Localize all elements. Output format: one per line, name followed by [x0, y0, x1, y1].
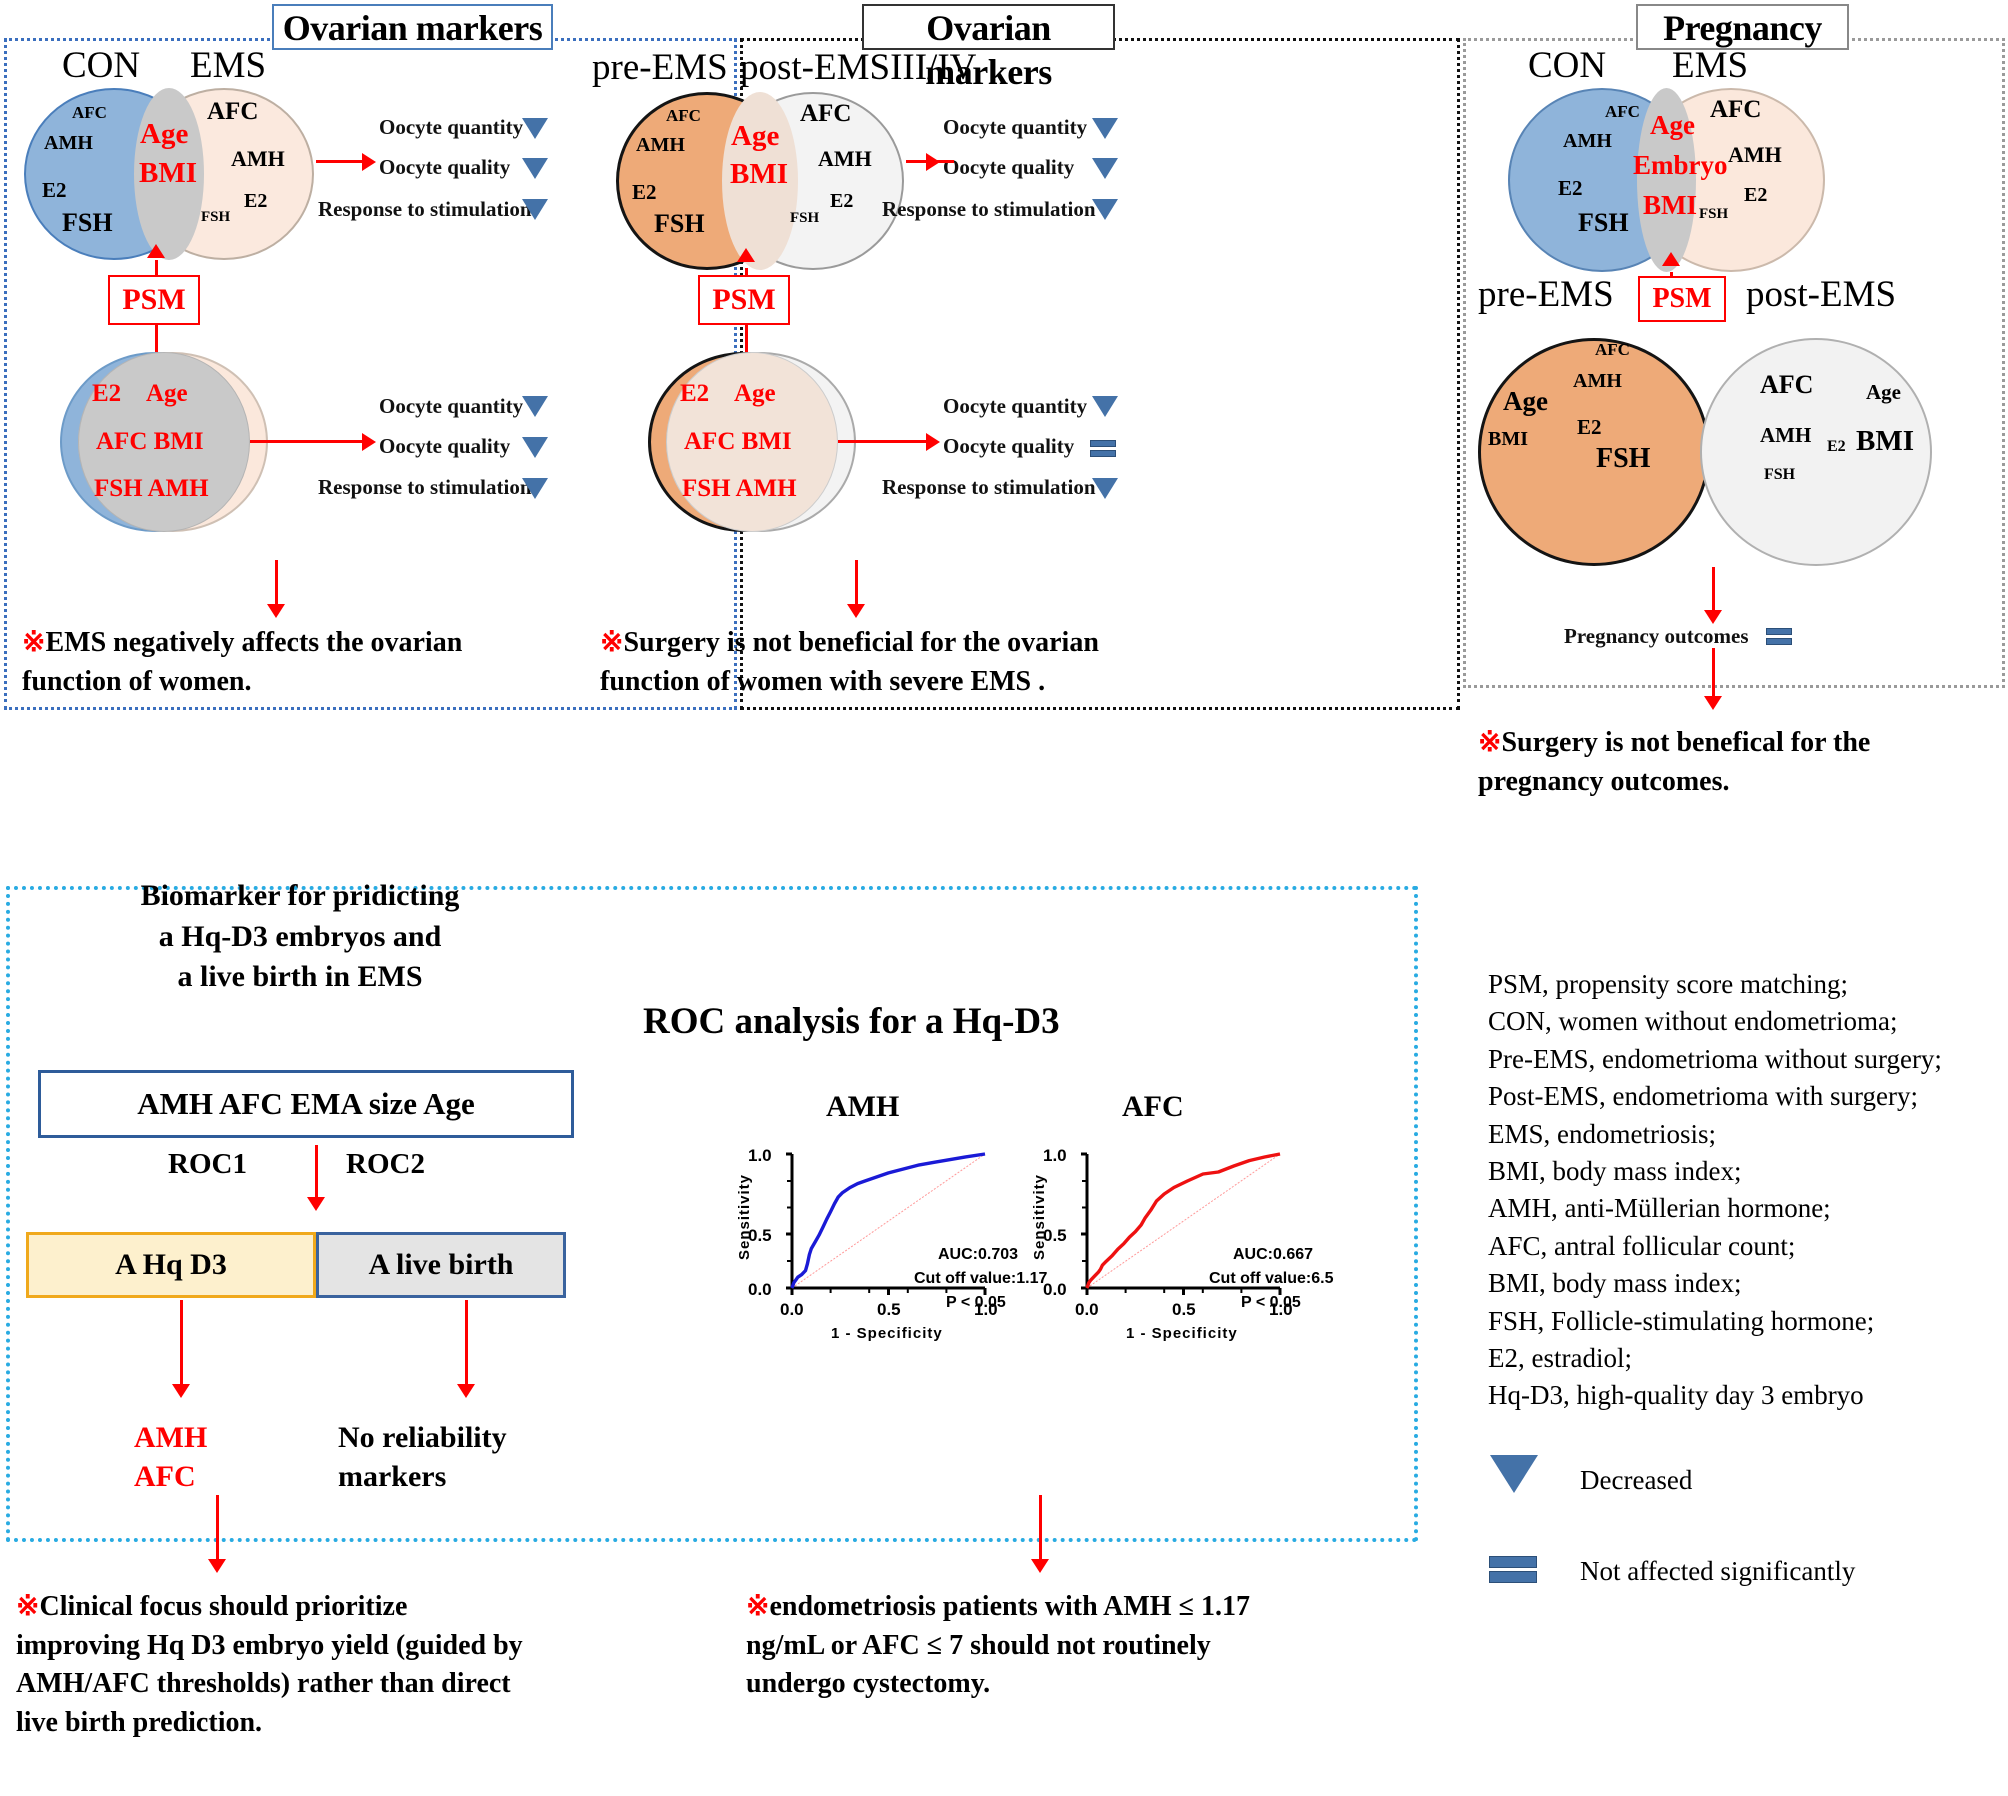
legend-not-affected-label: Not affected significantly [1580, 1556, 1855, 1587]
p4-conclusion-left: ※Clinical focus should prioritize improv… [16, 1588, 536, 1743]
p2-center-marker-age: Age [731, 120, 779, 153]
p3-right-marker-afc: AFC [1710, 96, 1761, 124]
p1-conclusion-arrow-head [267, 604, 285, 618]
biomarker-markers-box: AMH AFC EMA size Age [38, 1070, 574, 1138]
biomarker-title-line-2: a live birth in EMS [60, 957, 540, 998]
abbreviation-0: PSM, propensity score matching; [1488, 966, 1942, 1003]
p4-left-conclusion-arrow-head [208, 1559, 226, 1573]
p3-bl-marker-amh: AMH [1573, 370, 1622, 393]
live-result-line-1: markers [338, 1457, 507, 1496]
p2-right-marker-afc: AFC [800, 100, 851, 128]
p1-top-arrow-head [362, 153, 376, 171]
p3-right-marker-e2: E2 [1744, 184, 1767, 207]
roc-chart-0-xtick-0: 0.0 [780, 1300, 804, 1320]
p1-outcome-top-0-decreased-icon [522, 118, 548, 139]
p3-br-marker-age: Age [1866, 380, 1901, 405]
live-arrow-line [465, 1300, 468, 1388]
roc-chart-1-xtick-05: 0.5 [1172, 1300, 1196, 1320]
p3-bl-marker-age: Age [1503, 386, 1548, 417]
roc-chart-0-auc: AUC:0.703 [938, 1246, 1018, 1264]
roc-chart-0-pvalue: P < 0.05 [946, 1294, 1006, 1312]
p3-bottom-right-label: post-EMS [1746, 273, 1896, 316]
p3-left-marker-fsh: FSH [1578, 208, 1629, 238]
p2-conclusion-text: Surgery is not beneficial for the ovaria… [600, 627, 1099, 697]
p3-outcome-not-affected-icon [1766, 628, 1792, 648]
p2-outcome-bottom-1: Oocyte quality [943, 434, 1074, 459]
p2-top-arrow-head [926, 153, 940, 171]
p2-top-left-label: pre-EMS [592, 46, 728, 89]
p4-right-conclusion-arrow-head [1031, 1559, 1049, 1573]
p3-br-marker-e2: E2 [1827, 438, 1846, 456]
abbreviation-2: Pre-EMS, endometrioma without surgery; [1488, 1041, 1942, 1078]
p3-left-marker-amh: AMH [1563, 130, 1612, 153]
p4-conclusion-left-text: Clinical focus should prioritize improvi… [16, 1591, 523, 1738]
p1-center-marker-age: Age [140, 118, 188, 151]
p2-psm-arrow-head-up [737, 248, 755, 262]
hq-arrow-head [172, 1384, 190, 1398]
roc-chart-0-ytick-0: 0.0 [748, 1280, 772, 1300]
hq-result-line-0: AMH [134, 1418, 207, 1457]
p1-outcome-bottom-0-decreased-icon [522, 396, 548, 417]
roc1-label: ROC1 [168, 1148, 247, 1181]
roc-chart-0-cutoff: Cut off value:1.17 [914, 1270, 1047, 1288]
p2-outcome-bottom-0: Oocyte quantity [943, 394, 1087, 419]
p2-bottom-marker-age: Age [734, 380, 776, 408]
hq-result: AMH AFC [134, 1418, 207, 1496]
p4-conclusion-right: ※endometriosis patients with AMH ≤ 1.17 … [746, 1588, 1266, 1704]
p2-left-marker-fsh: FSH [654, 209, 705, 239]
p1-top-arrow-line [316, 160, 364, 163]
p4-right-conclusion-arrow-line [1039, 1495, 1042, 1563]
legend-decreased-icon [1490, 1455, 1538, 1493]
p4-conclusion-right-text: endometriosis patients with AMH ≤ 1.17 n… [746, 1591, 1250, 1699]
p1-left-marker-amh: AMH [44, 132, 93, 155]
p3-top-right-label: EMS [1672, 44, 1748, 87]
p3-conclusion-arrow-line [1712, 648, 1715, 700]
biomarker-title-line-0: Biomarker for pridicting [60, 876, 540, 917]
abbreviation-3: Post-EMS, endometrioma with surgery; [1488, 1078, 1942, 1115]
p1-outcome-top-1-decreased-icon [522, 158, 548, 179]
roc-chart-1-xlabel: 1 - Specificity [1126, 1325, 1238, 1342]
p1-outcome-bottom-1: Oocyte quality [379, 434, 510, 459]
p3-outcome-label: Pregnancy outcomes [1564, 624, 1749, 649]
p2-left-marker-e2: E2 [632, 180, 657, 205]
p3-br-marker-afc: AFC [1760, 370, 1813, 400]
roc-chart-0-title: AMH [826, 1090, 899, 1124]
biomarker-split-arrow-line [315, 1145, 318, 1201]
biomarker-title-line-1: a Hq-D3 embryos and [60, 917, 540, 958]
hq-result-line-1: AFC [134, 1457, 207, 1496]
abbreviation-6: AMH, anti-Müllerian hormone; [1488, 1190, 1942, 1227]
abbreviation-5: BMI, body mass index; [1488, 1153, 1942, 1190]
p3-bl-marker-fsh: FSH [1596, 443, 1650, 475]
p1-left-marker-afc: AFC [72, 103, 107, 123]
live-arrow-head [457, 1384, 475, 1398]
p1-top-left-label: CON [62, 44, 140, 87]
p1-psm-box: PSM [108, 275, 200, 325]
p1-outcome-bottom-0: Oocyte quantity [379, 394, 523, 419]
p2-bottom-arrow-head [926, 433, 940, 451]
p3-bl-marker-e2: E2 [1577, 415, 1602, 440]
p2-center-marker-bmi: BMI [730, 158, 788, 191]
p1-outcome-bottom-1-decreased-icon [522, 437, 548, 458]
roc2-label: ROC2 [346, 1148, 425, 1181]
abbreviation-9: FSH, Follicle-stimulating hormone; [1488, 1303, 1942, 1340]
p1-psm-arrow-head-up [147, 244, 165, 258]
p1-top-right-label: EMS [190, 44, 266, 87]
p1-left-marker-e2: E2 [42, 178, 67, 203]
hq-d3-box: A Hq D3 [26, 1232, 316, 1298]
biomarker-split-arrow-head [307, 1197, 325, 1211]
p2-bottom-marker-afc-bmi: AFC BMI [684, 428, 792, 456]
p2-outcome-top-2: Response to stimulation [882, 197, 1096, 222]
p3-outcome-arrow-line [1712, 567, 1715, 614]
panel-1-title: Ovarian markers [272, 4, 553, 50]
p3-conclusion-arrow-head [1704, 696, 1722, 710]
p1-center-marker-bmi: BMI [139, 157, 197, 190]
p3-bl-marker-bmi: BMI [1488, 428, 1528, 451]
p1-bottom-marker-afc-bmi: AFC BMI [96, 428, 204, 456]
p1-right-marker-fsh: FSH [201, 209, 230, 226]
p1-outcome-top-2: Response to stimulation [318, 197, 532, 222]
p4-left-conclusion-arrow-line [216, 1495, 219, 1563]
p3-outcome-arrow-head [1704, 610, 1722, 624]
biomarker-title: Biomarker for pridicting a Hq-D3 embryos… [60, 876, 540, 998]
legend-decreased-label: Decreased [1580, 1465, 1692, 1496]
roc-chart-1-pvalue: P < 0.05 [1241, 1294, 1301, 1312]
p1-bottom-marker-e2: E2 [92, 380, 121, 408]
p2-right-marker-fsh: FSH [790, 210, 819, 227]
roc-chart-1-ylabel: Sensitivity [1031, 1174, 1048, 1260]
p3-left-marker-e2: E2 [1558, 176, 1583, 201]
roc-chart-0-ylabel: Sensitivity [736, 1174, 753, 1260]
hq-arrow-line [180, 1300, 183, 1388]
roc-chart-1-title: AFC [1122, 1090, 1184, 1124]
p3-br-marker-bmi: BMI [1856, 425, 1914, 458]
roc-chart-1-cutoff: Cut off value:6.5 [1209, 1270, 1333, 1288]
live-birth-box: A live birth [316, 1232, 566, 1298]
legend-not-affected-icon [1489, 1556, 1537, 1590]
abbreviation-7: AFC, antral follicular count; [1488, 1228, 1942, 1265]
p2-outcome-bottom-2: Response to stimulation [882, 475, 1096, 500]
p2-outcome-top-1: Oocyte quality [943, 155, 1074, 180]
p3-bottom-left-label: pre-EMS [1478, 273, 1614, 316]
p3-top-left-label: CON [1528, 44, 1606, 87]
p1-outcome-top-1: Oocyte quality [379, 155, 510, 180]
p1-right-marker-amh: AMH [231, 146, 285, 172]
p3-center-marker-age: Age [1650, 110, 1695, 141]
p2-bottom-marker-e2: E2 [680, 380, 709, 408]
abbreviation-11: Hq-D3, high-quality day 3 embryo [1488, 1377, 1942, 1414]
live-result-line-0: No reliability [338, 1418, 507, 1457]
p2-outcome-top-2-decreased-icon [1092, 199, 1118, 220]
p2-top-right-label: post-EMSIII/IV [740, 46, 976, 89]
p1-conclusion-arrow-line [275, 560, 278, 608]
roc-chart-0-ytick-1: 1.0 [748, 1146, 772, 1166]
p3-bl-marker-afc: AFC [1595, 340, 1630, 360]
p3-br-marker-amh: AMH [1760, 423, 1811, 448]
live-result: No reliability markers [338, 1418, 507, 1496]
p1-outcome-top-0: Oocyte quantity [379, 115, 523, 140]
p2-outcome-bottom-0-decreased-icon [1092, 396, 1118, 417]
p1-outcome-bottom-2: Response to stimulation [318, 475, 532, 500]
p3-conclusion-text: Surgery is not benefical for the pregnan… [1478, 727, 1870, 797]
p1-bottom-arrow-line [250, 440, 364, 443]
abbreviation-10: E2, estradiol; [1488, 1340, 1942, 1377]
p1-bottom-marker-fsh-amh: FSH AMH [94, 475, 209, 503]
p1-outcome-top-2-decreased-icon [522, 199, 548, 220]
p2-right-marker-amh: AMH [818, 146, 872, 172]
p1-left-marker-fsh: FSH [62, 208, 113, 238]
p1-bottom-marker-age: Age [146, 380, 188, 408]
roc-chart-0-xtick-05: 0.5 [877, 1300, 901, 1320]
p1-right-marker-afc: AFC [207, 98, 258, 126]
p2-conclusion: ※Surgery is not beneficial for the ovari… [600, 624, 1160, 701]
p2-bottom-arrow-line [838, 440, 928, 443]
p3-conclusion: ※Surgery is not benefical for the pregna… [1478, 724, 1998, 801]
roc-chart-1-ytick-1: 1.0 [1043, 1146, 1067, 1166]
abbreviations-list: PSM, propensity score matching; CON, wom… [1488, 966, 1942, 1415]
p3-center-marker-bmi: BMI [1643, 190, 1697, 221]
p1-conclusion-text: EMS negatively affects the ovarian funct… [22, 627, 462, 697]
p1-outcome-bottom-2-decreased-icon [522, 478, 548, 499]
p3-right-marker-amh: AMH [1728, 142, 1782, 168]
p1-right-marker-e2: E2 [244, 190, 267, 213]
p3-right-marker-fsh: FSH [1699, 206, 1728, 223]
p2-outcome-top-1-decreased-icon [1092, 158, 1118, 179]
p2-right-marker-e2: E2 [830, 190, 853, 213]
abbreviation-4: EMS, endometriosis; [1488, 1116, 1942, 1153]
p2-outcome-top-0-decreased-icon [1092, 118, 1118, 139]
p2-outcome-bottom-1-not-affected-icon [1090, 440, 1116, 460]
abbreviation-1: CON, women without endometrioma; [1488, 1003, 1942, 1040]
p2-conclusion-arrow-line [855, 560, 858, 608]
p2-outcome-top-0: Oocyte quantity [943, 115, 1087, 140]
p2-left-marker-afc: AFC [666, 106, 701, 126]
p3-psm-arrow-head-up [1662, 252, 1680, 266]
p1-bottom-arrow-head [362, 433, 376, 451]
p2-conclusion-arrow-head [847, 604, 865, 618]
p3-left-marker-afc: AFC [1605, 102, 1640, 122]
roc-chart-1-auc: AUC:0.667 [1233, 1246, 1313, 1264]
p2-left-marker-amh: AMH [636, 134, 685, 157]
p3-br-marker-fsh: FSH [1764, 466, 1795, 484]
roc-section-title: ROC analysis for a Hq-D3 [643, 1000, 1060, 1043]
p2-psm-box: PSM [698, 275, 790, 325]
roc-chart-1-xtick-0: 0.0 [1075, 1300, 1099, 1320]
p1-conclusion: ※EMS negatively affects the ovarian func… [22, 624, 562, 701]
abbreviation-8: BMI, body mass index; [1488, 1265, 1942, 1302]
p2-outcome-bottom-2-decreased-icon [1092, 478, 1118, 499]
roc-chart-1-ytick-0: 0.0 [1043, 1280, 1067, 1300]
panel-2-title: Ovarian markers [862, 4, 1115, 50]
p3-psm-box: PSM [1638, 276, 1726, 322]
p3-center-marker-embryo: Embryo [1633, 150, 1728, 181]
p2-bottom-marker-fsh-amh: FSH AMH [682, 475, 797, 503]
roc-chart-0-xlabel: 1 - Specificity [831, 1325, 943, 1342]
